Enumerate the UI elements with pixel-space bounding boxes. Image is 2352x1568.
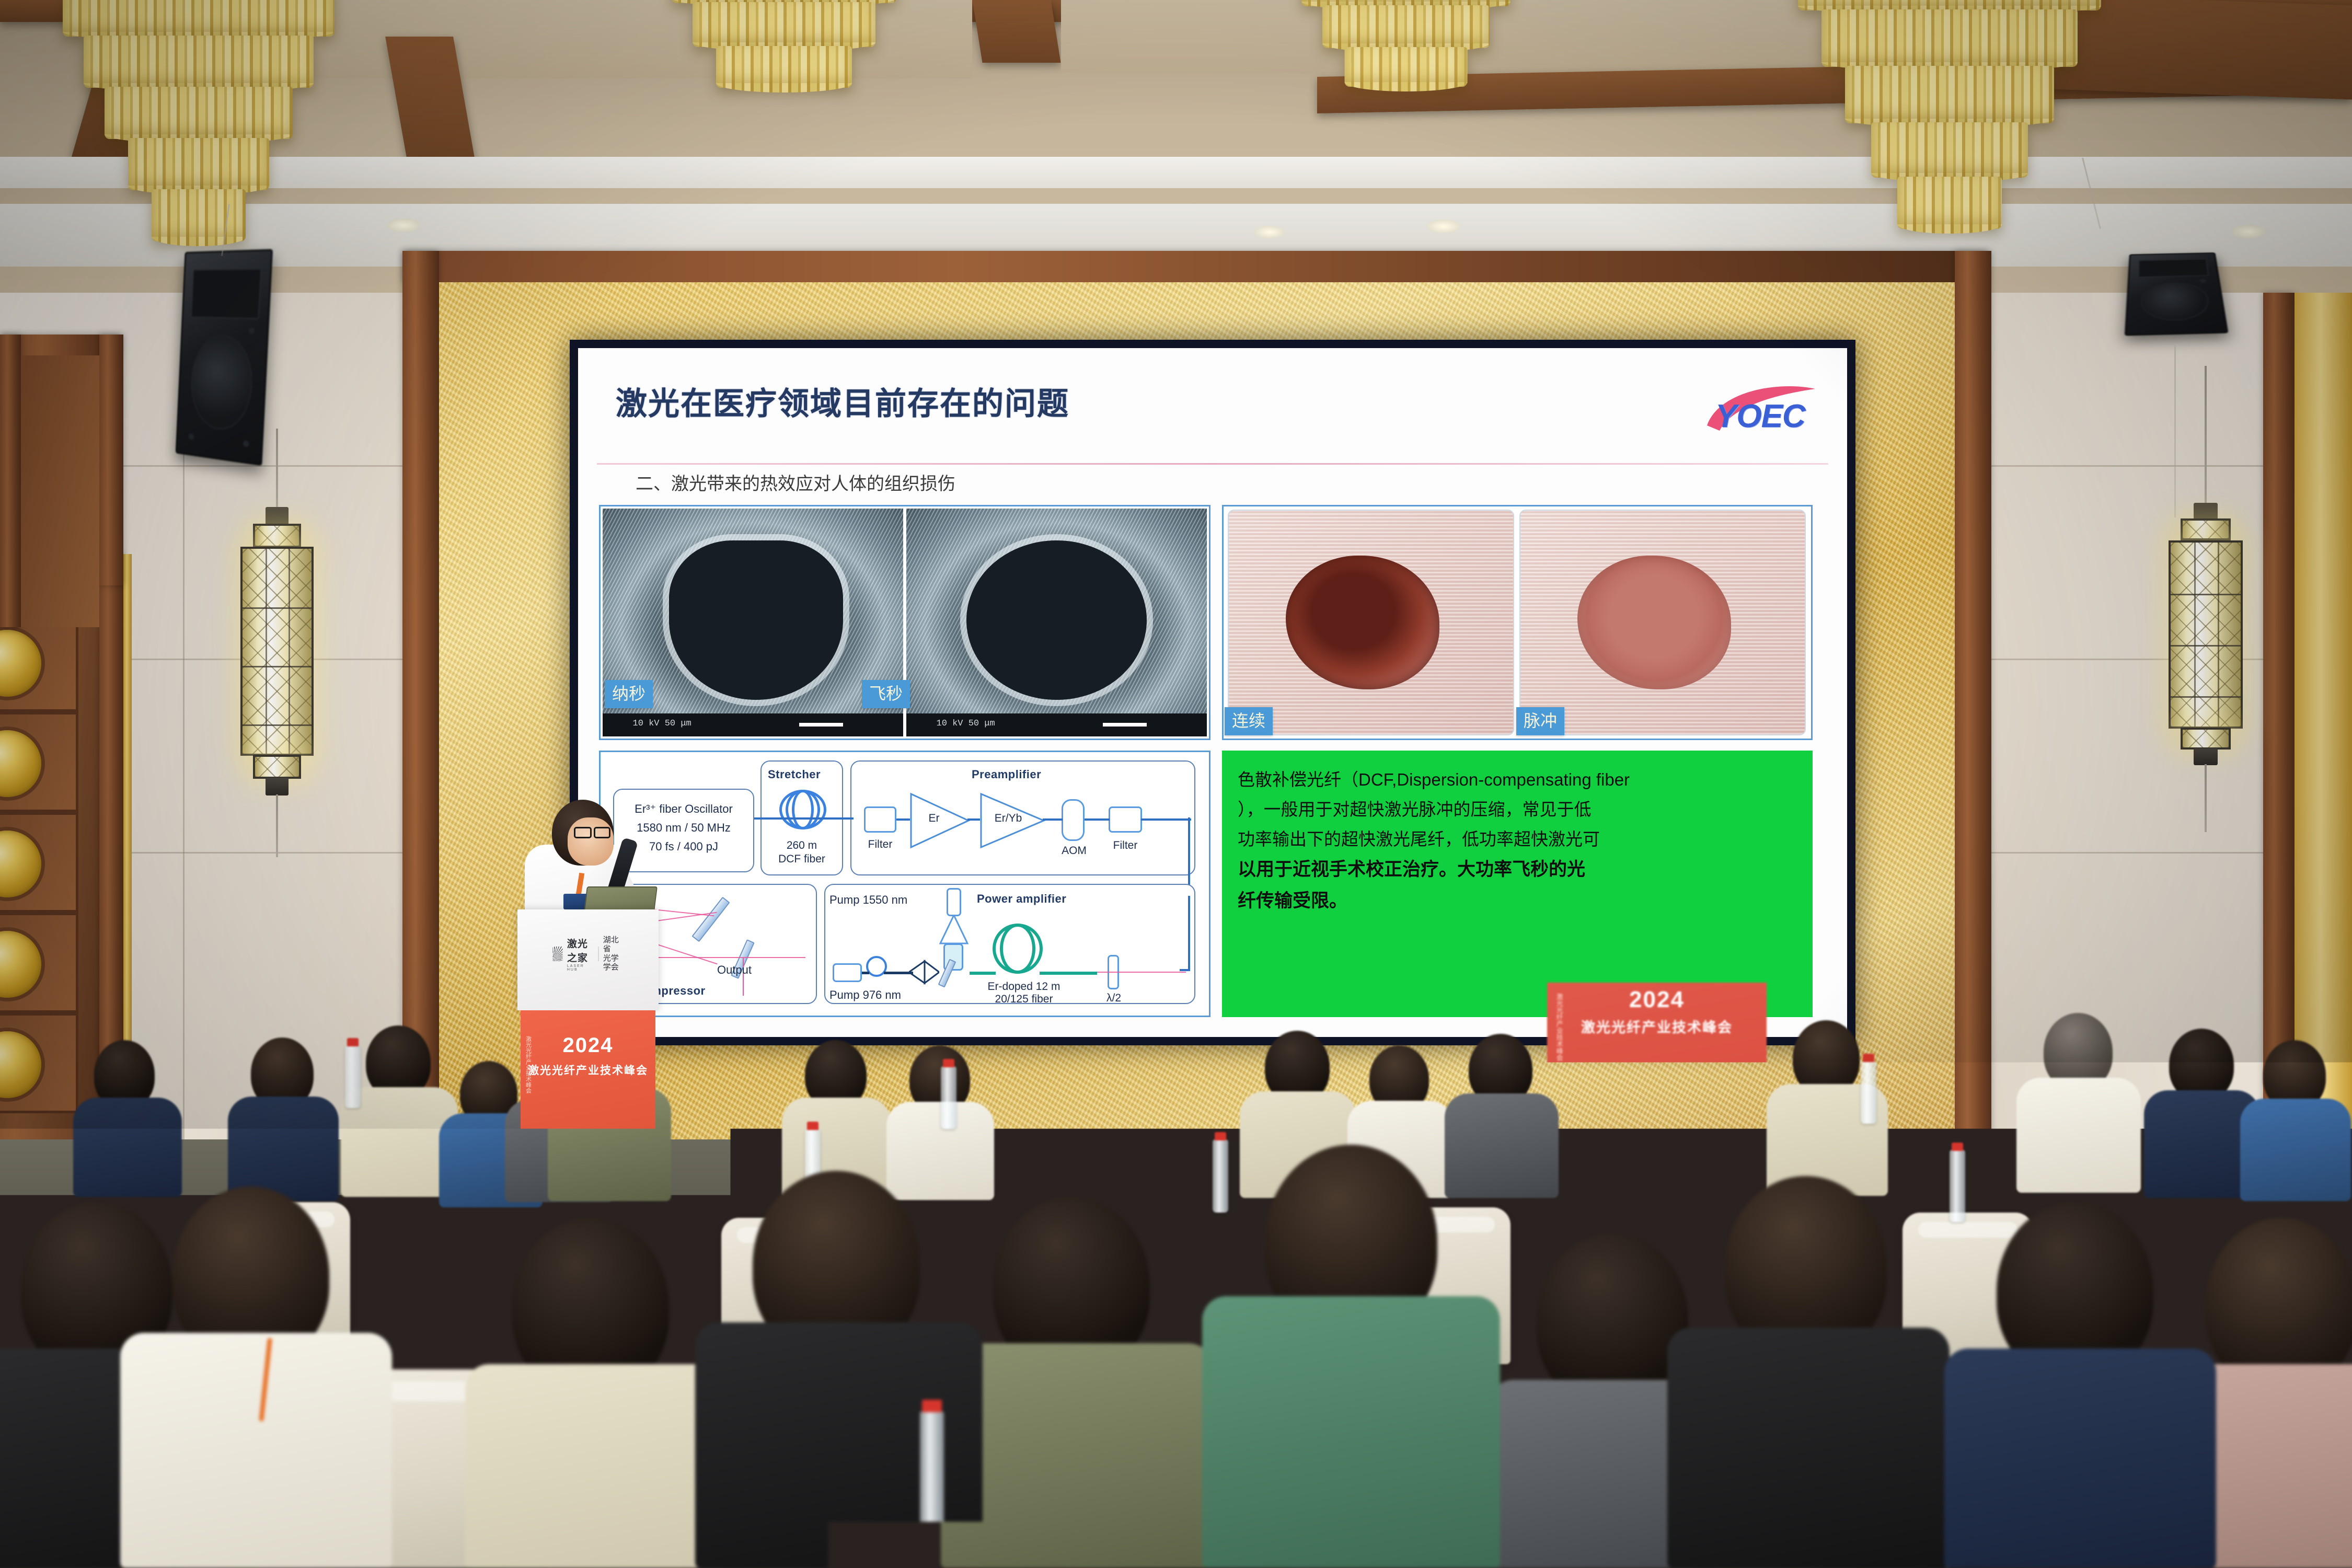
green-line-4: 以用于近视手术校正治疗。大功率飞秒的光 — [1238, 854, 1797, 885]
chandelier-right — [1788, 0, 2112, 277]
lectern-top-panel: 激光之家 LASER HUB 湖北省 光学学会 — [517, 909, 659, 1010]
banner-year: 2024 — [1629, 987, 1685, 1013]
lectern: 激光之家 LASER HUB 湖北省 光学学会 2024 激光光纤产业技术峰会 … — [517, 909, 659, 1129]
audience-table — [314, 1317, 784, 1354]
downlight — [1254, 226, 1285, 238]
banner-summit-name: 激光光纤产业技术峰会 — [1581, 1016, 1733, 1036]
yoec-logo: YOEC — [1703, 381, 1823, 443]
sem-scalebar-right: 10 kV 50 μm — [906, 713, 1207, 736]
downlight — [1427, 220, 1460, 233]
banner-location: 武汉·光谷 — [1633, 1085, 1681, 1099]
preamplifier-box: Preamplifier Filter Er Er/Yb AOM Filter — [850, 760, 1195, 875]
gain-fiber-line1: Er-doped 12 m — [977, 980, 1071, 994]
green-explanation-box: 色散补偿光纤（DCF,Dispersion-compensating fiber… — [1222, 751, 1813, 1017]
tissue-image-pulsed — [1519, 510, 1806, 735]
preamp-amp2-label: Er/Yb — [986, 812, 1030, 825]
power-amplifier-title: Power amplifier — [977, 892, 1066, 906]
sem-scale-text-right: 10 kV 50 μm — [937, 719, 995, 729]
sem-scale-text-left: 10 kV 50 μm — [633, 719, 691, 729]
label-femtosecond: 飞秒 — [862, 680, 910, 708]
slide-subtitle: 二、激光带来的热效应对人体的组织损伤 — [636, 469, 955, 495]
lectern-year: 2024 — [563, 1034, 614, 1057]
audience-table — [941, 1338, 1463, 1380]
pendant-lantern-left — [225, 429, 329, 847]
door-leaf-left — [21, 355, 99, 627]
green-line-2: ），一般用于对超快激光脉冲的压缩，常见于低 — [1238, 795, 1797, 825]
slide-header: 激光在医疗领域目前存在的问题 YOEC — [578, 371, 1847, 440]
downlight — [387, 218, 420, 232]
green-line-5: 纤传输受限。 — [1238, 885, 1797, 917]
sem-image-panel: 10 kV 50 μm 10 kV 50 μm 纳秒 飞秒 — [599, 505, 1210, 740]
stretcher-title: Stretcher — [768, 768, 821, 781]
ceiling-speaker-right — [2125, 252, 2229, 336]
lectern-summit-name: 激光光纤产业技术峰会 — [528, 1062, 648, 1078]
lectern-organizer-line2: 光学学会 — [603, 954, 624, 972]
door-jamb-left-2 — [99, 335, 123, 585]
presenter-face — [568, 817, 614, 866]
label-continuous: 连续 — [1225, 707, 1273, 735]
title-divider — [597, 463, 1828, 465]
pump-1550-label: Pump 1550 nm — [829, 893, 944, 907]
chandelier-left — [52, 0, 345, 277]
event-backdrop-banner: 2024 激光光纤产业技术峰会 武汉·光谷 激光光纤产业技术峰会 — [1547, 983, 1767, 1192]
preamp-filter-out-label: Filter — [1101, 839, 1149, 852]
downlight — [2232, 225, 2265, 238]
power-amplifier-box: Pump 1550 nm Power amplifier — [824, 884, 1195, 1004]
stage-header-beam — [402, 251, 1986, 282]
tissue-image-continuous — [1228, 510, 1514, 735]
lectern-side-text: 激光光纤产业技术峰会 — [524, 1036, 533, 1093]
podium-laptop — [584, 886, 658, 912]
presenter-glasses-2 — [594, 827, 610, 838]
yoec-logo-text: YOEC — [1715, 398, 1805, 435]
lectern-logo: 激光之家 LASER HUB 湖北省 光学学会 — [553, 936, 624, 972]
pendant-lantern-right — [2153, 366, 2258, 836]
door-jamb-left — [0, 335, 21, 627]
fiber-laser-diagram: Er³⁺ fiber Oscillator 1580 nm / 50 MHz 7… — [599, 751, 1210, 1017]
pump-976-label: Pump 976 nm — [829, 988, 944, 1002]
label-pulsed: 脉冲 — [1516, 707, 1564, 735]
tissue-image-panel: 连续 脉冲 — [1222, 505, 1813, 740]
waveplate-label: λ/2 — [1095, 991, 1133, 1005]
projection-screen: 激光在医疗领域目前存在的问题 YOEC 二、激光带来的热效应对人体的组织损伤 1… — [570, 340, 1855, 1045]
lectern-logo-divider — [598, 947, 598, 961]
gain-fiber-line2: 20/125 fiber — [977, 993, 1071, 1006]
green-line-3: 功率输出下的超快激光尾纤，低功率超快激光可 — [1238, 825, 1797, 855]
lectern-brand-en: LASER HUB — [567, 964, 594, 972]
chandelier-center-left — [664, 0, 904, 115]
decorative-door-panel-left — [0, 591, 105, 1166]
compressor-output-label: Output — [703, 963, 766, 977]
preamp-filter-in-label: Filter — [857, 838, 904, 851]
stretcher-caption-2: DCF fiber — [762, 852, 842, 866]
conference-hall-scene: 激光在医疗领域目前存在的问题 YOEC 二、激光带来的热效应对人体的组织损伤 1… — [0, 0, 2352, 1568]
chandelier-center-right — [1296, 0, 1516, 110]
sem-image-femtosecond: 10 kV 50 μm — [906, 509, 1207, 736]
stretcher-caption-1: 260 m — [762, 839, 842, 852]
lectern-organizer-line1: 湖北省 — [603, 936, 624, 954]
label-nanosecond: 纳秒 — [605, 680, 653, 708]
sem-scalebar-left: 10 kV 50 μm — [603, 713, 903, 736]
green-line-1: 色散补偿光纤（DCF,Dispersion-compensating fiber — [1238, 765, 1797, 795]
audience-table — [1620, 1322, 2091, 1360]
lectern-brand-cn: 激光之家 — [567, 936, 594, 964]
slide-title: 激光在医疗领域目前存在的问题 — [616, 378, 1069, 424]
preamp-aom-label: AOM — [1053, 844, 1095, 858]
presenter-glasses — [574, 827, 592, 838]
laser-hub-fan-icon — [553, 947, 563, 961]
stage-frame-right — [1955, 251, 1991, 1192]
audience-phone — [1976, 1077, 1993, 1106]
presentation-slide: 激光在医疗领域目前存在的问题 YOEC 二、激光带来的热效应对人体的组织损伤 1… — [578, 348, 1847, 1037]
banner-side-text: 激光光纤产业技术峰会 — [1553, 993, 1564, 1061]
preamplifier-title: Preamplifier — [972, 768, 1041, 781]
preamp-amp1-label: Er — [918, 812, 950, 825]
